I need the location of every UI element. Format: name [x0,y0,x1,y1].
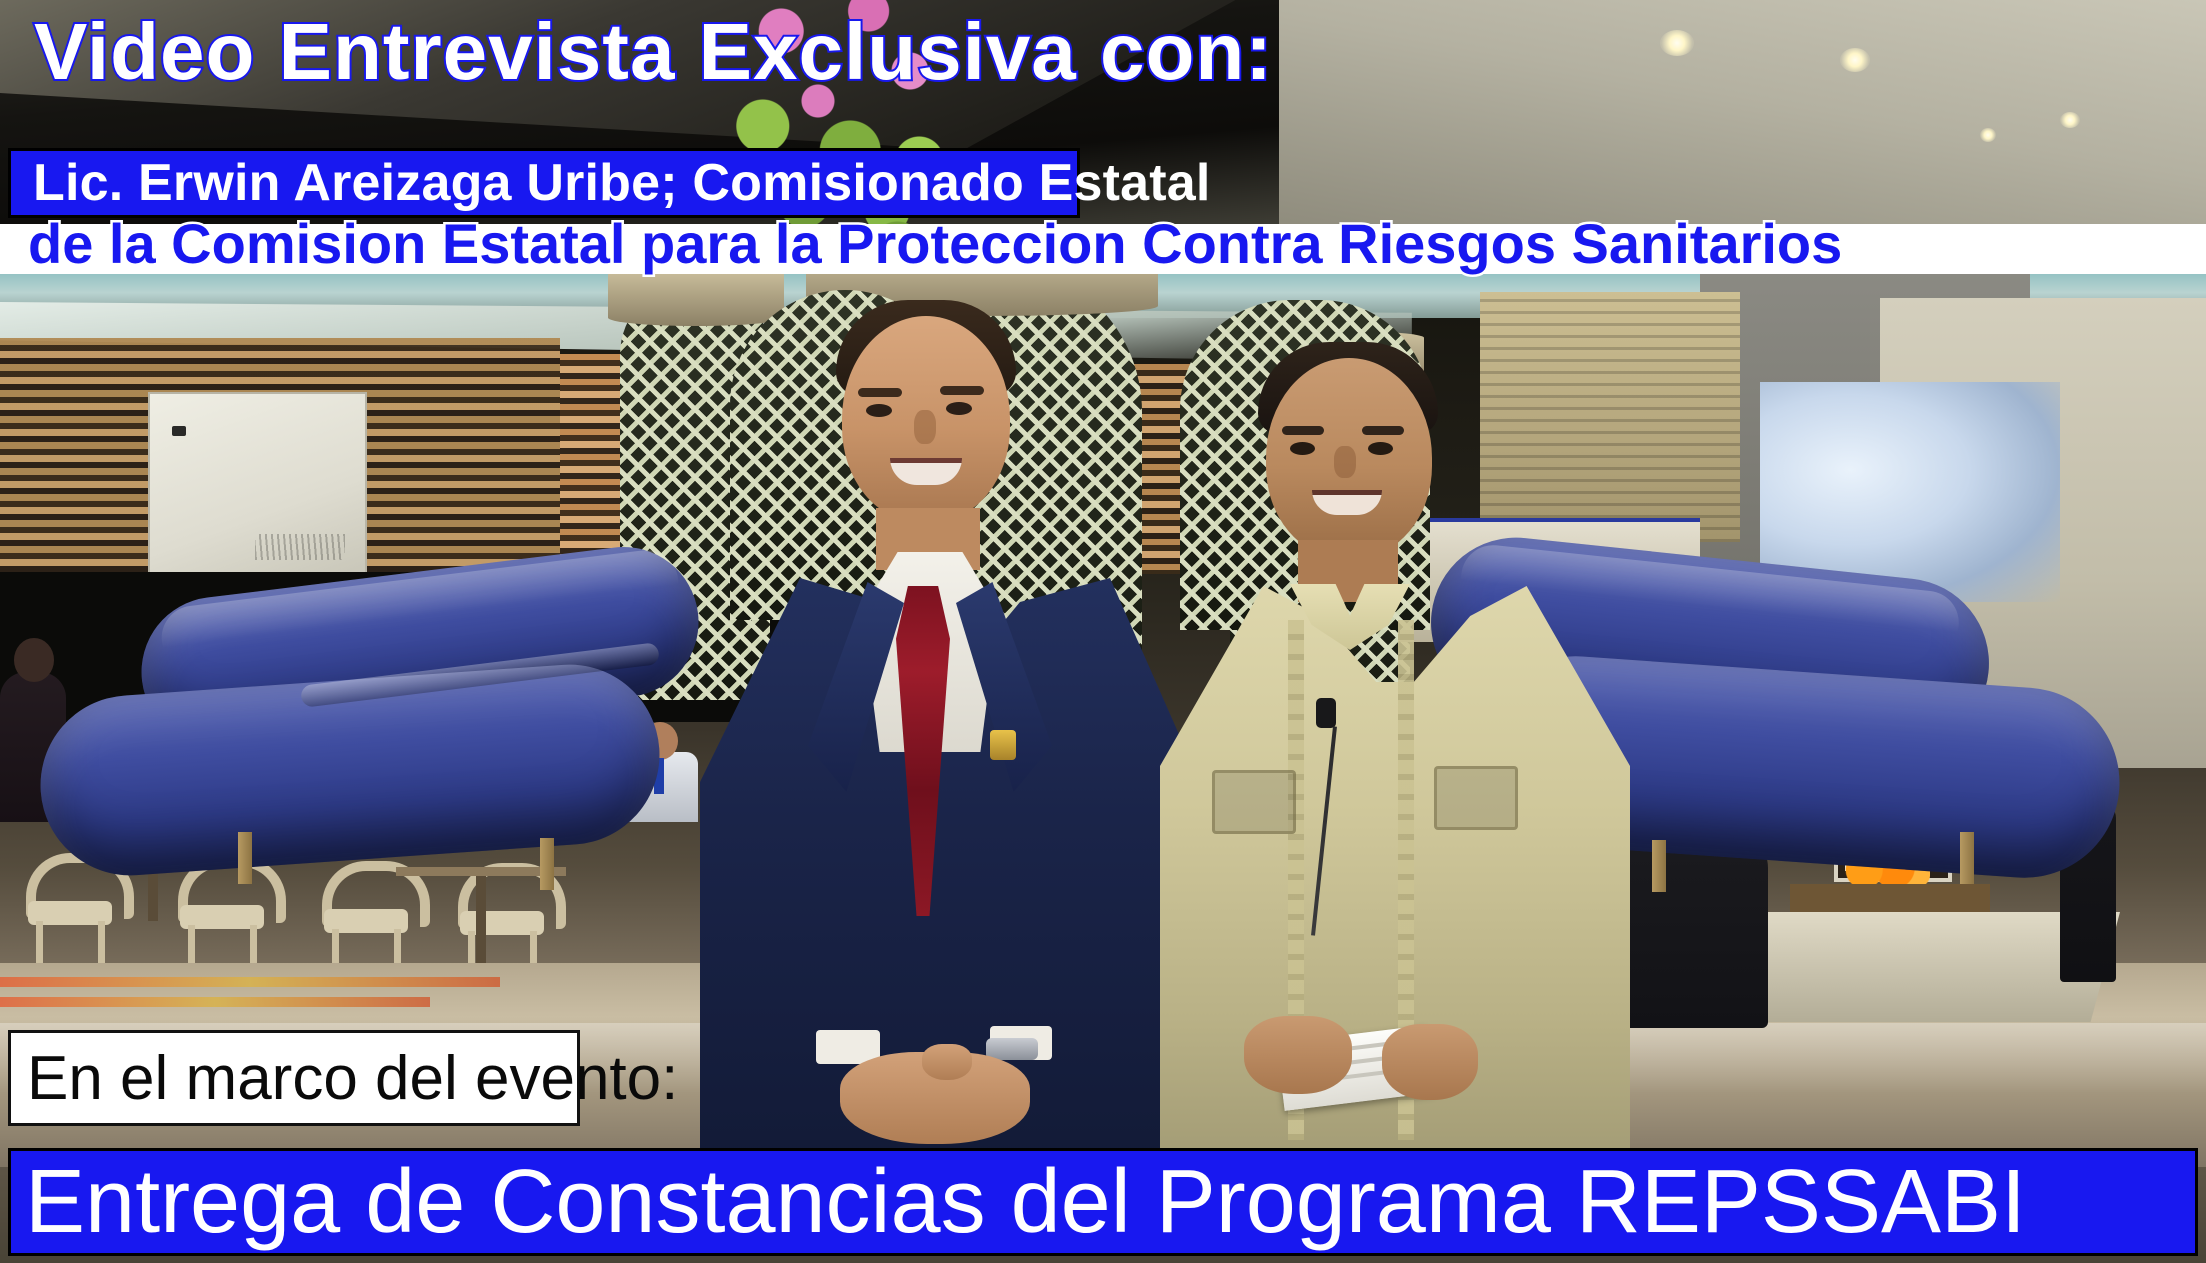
sofa-leg [540,838,554,890]
subject-man-in-suit [690,290,1210,1263]
ceiling-spotlight-icon [1660,30,1694,56]
sofa-leg [238,832,252,884]
floor-accent-stripe [0,977,500,987]
subject-man-in-guayabera [1170,300,1640,1263]
thumbnail-graphic: Video Entrevista Exclusiva con: Lic. Erw… [0,0,2206,1263]
man2-hand-right [1382,1024,1478,1100]
man2-eyebrow [1282,426,1324,435]
chair-leg [98,921,105,965]
sofa-leg [1960,832,1974,884]
man1-lapel-pin [990,730,1016,760]
wall-art-panel [148,392,367,586]
ceiling-spotlight-icon [2060,112,2080,128]
overlay-subtitle-line-2: de la Comision Estatal para la Proteccio… [28,216,1842,272]
man1-thumb [922,1044,972,1080]
overlay-event-prefix: En el marco del evento: [11,1043,678,1114]
man1-eyebrow [858,388,902,397]
chair-leg [36,921,43,965]
sofa-leg [1652,840,1666,892]
overlay-event-prefix-box: En el marco del evento: [8,1030,580,1126]
ceiling-spotlight-icon [1980,128,1996,142]
man2-eye [1368,442,1393,455]
man2-eyebrow [1362,426,1404,435]
man1-eye [866,404,892,417]
background-chair [172,857,272,967]
man1-eyebrow [940,386,984,395]
table-stem [476,876,486,972]
clip-microphone-icon [1316,698,1336,728]
man1-nose [914,410,936,444]
man1-eye [946,402,972,415]
overlay-subtitle-bar-2: de la Comision Estatal para la Proteccio… [28,172,2206,272]
man2-shirt-pocket [1434,766,1518,830]
ceiling-spotlight-icon [1840,48,1870,72]
floor-accent-stripe [0,997,430,1007]
man2-nose [1334,446,1356,478]
man2-eye [1290,442,1315,455]
wall-art-sketch [255,534,345,560]
overlay-title: Video Entrevista Exclusiva con: [34,6,1273,98]
overlay-event-name-bar: Entrega de Constancias del Programa REPS… [8,1148,2198,1256]
wall-art-mark [172,426,186,436]
man2-shirt-pocket [1212,770,1296,834]
man2-hand-left [1244,1016,1352,1094]
overlay-event-name: Entrega de Constancias del Programa REPS… [11,1151,2026,1254]
